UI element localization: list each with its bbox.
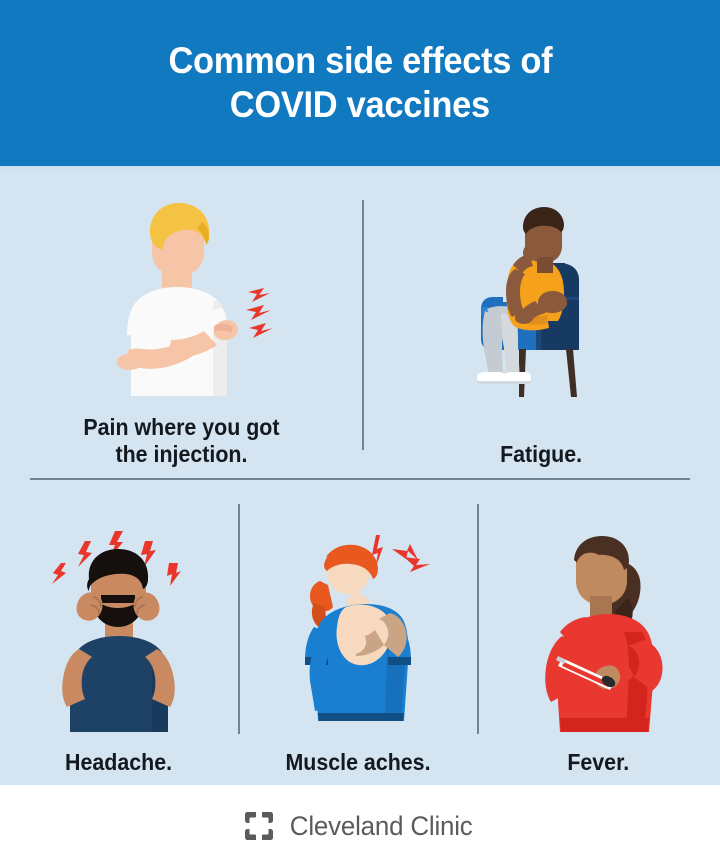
illustration-injection-site-pain — [0, 200, 362, 405]
side-effects-row-2: Headache. — [0, 496, 720, 776]
footer-logo-text: Cleveland Clinic — [290, 811, 473, 841]
shoes-icon — [477, 372, 531, 384]
side-effects-row-1: Pain where you got the injection. — [0, 178, 720, 468]
illustration-fatigue — [362, 200, 720, 405]
person-sitting-tired-in-armchair-icon — [441, 205, 641, 405]
side-effect-caption-muscle-aches: Muscle aches. — [285, 737, 430, 776]
cleveland-clinic-logo-icon — [243, 810, 275, 842]
side-effect-caption-fatigue: Fatigue. — [500, 405, 582, 468]
side-effect-caption-headache: Headache. — [65, 737, 172, 776]
header-banner: Common side effects of COVID vaccines — [0, 0, 720, 166]
side-effect-caption-injection-site-pain: Pain where you got the injection. — [83, 405, 279, 468]
page-title-line-1: Common side effects of — [168, 39, 552, 83]
side-effect-card-muscle-aches: Muscle aches. — [238, 496, 477, 776]
footer-branding: Cleveland Clinic — [0, 785, 720, 866]
side-effect-caption-fever: Fever. — [568, 737, 630, 776]
illustration-fever — [477, 527, 720, 737]
side-effect-card-injection-site-pain: Pain where you got the injection. — [0, 178, 362, 468]
side-effect-card-fatigue: Fatigue. — [362, 178, 720, 468]
illustration-headache — [0, 527, 238, 737]
side-effects-panel: Pain where you got the injection. — [0, 166, 720, 785]
side-effect-card-fever: Fever. — [477, 496, 720, 776]
illustration-muscle-aches — [238, 527, 477, 737]
page-title-line-2: COVID vaccines — [230, 83, 490, 127]
side-effect-card-headache: Headache. — [0, 496, 238, 776]
infographic-root: Common side effects of COVID vaccines — [0, 0, 720, 866]
person-holding-head-with-lightning-bolts-icon — [29, 527, 209, 737]
row-divider-horizontal — [30, 478, 690, 480]
person-reaching-for-sore-shoulder-icon — [268, 527, 448, 737]
person-holding-sore-arm-icon — [76, 200, 286, 405]
pain-marks-icon — [246, 288, 273, 338]
pain-marks-icon — [372, 535, 430, 572]
person-with-thermometer-icon — [504, 532, 694, 737]
